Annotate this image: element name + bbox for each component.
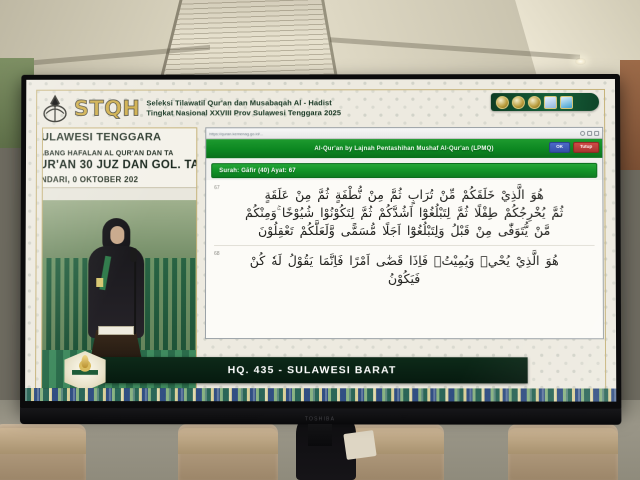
stqh-wordmark: STQH (74, 97, 141, 121)
poster-province: ULAWESI TENGGARA (41, 131, 192, 143)
contestant-figure (86, 218, 146, 368)
ayah-block: 67 هُوَ الَّذِيْ خَلَقَكُمْ مِّنْ تُرَاب… (214, 185, 594, 241)
window-controls[interactable] (580, 130, 599, 135)
minimize-icon[interactable] (580, 130, 585, 135)
tv-screen: STQH Seleksi Tilawatil Qur'an dan Musaba… (25, 79, 616, 402)
stqh-emblem-icon (42, 94, 68, 124)
microphone-icon (130, 248, 137, 262)
chair (508, 424, 618, 480)
ayah-divider (214, 245, 594, 246)
maximize-icon[interactable] (587, 130, 592, 135)
contestant-panel: ULAWESI TENGGARA ABANG HAFALAN AL QUR'AN… (41, 127, 197, 389)
browser-url-bar[interactable]: https://quran.kemenag.go.id/... (206, 128, 602, 139)
app-title: Al-Qur'an by Lajnah Pentashihan Mushaf A… (314, 145, 493, 151)
microphone-stand (134, 256, 136, 334)
caption-bar: HQ. 435 - SULAWESI BARAT (97, 357, 528, 383)
poster-line3: NDARI, 0 OKTOBER 202 (41, 175, 192, 184)
surah-bar-wrapper: Surah: Gāfir (40) Ayat: 67 (206, 158, 602, 182)
medallion-mark (72, 358, 98, 384)
surah-label: Surah: Gāfir (40) Ayat: 67 (219, 168, 296, 174)
app-header-buttons[interactable]: OK Tutup (549, 142, 599, 153)
close-button[interactable]: Tutup (573, 142, 599, 153)
poster-line2: UR'AN 30 JUZ DAN GOL. TA (41, 159, 192, 171)
television: TOSHIBA STQH Seleksi Tilawati (20, 74, 621, 411)
tv-brand-label: TOSHIBA (305, 416, 335, 422)
downlight (575, 58, 586, 65)
tv-stand-neck (308, 424, 332, 446)
chair-back (0, 428, 86, 454)
quran-text-pane[interactable]: 67 هُوَ الَّذِيْ خَلَقَكُمْ مِّنْ تُرَاب… (206, 180, 603, 338)
contestant-face (110, 226, 124, 244)
mushaf-book (98, 326, 134, 335)
slide-ornament-strip (25, 388, 616, 402)
ayah-block: 68 هُوَ الَّذِيْ يُحْيٖ وَيُمِيْتُۚ فَاِ… (214, 251, 595, 289)
surah-bar[interactable]: Surah: Gāfir (40) Ayat: 67 (211, 163, 597, 178)
app-header: Al-Qur'an by Lajnah Pentashihan Mushaf A… (206, 139, 602, 158)
ayah-number: 67 (214, 185, 220, 191)
poster-text-band: ULAWESI TENGGARA ABANG HAFALAN AL QUR'AN… (43, 128, 197, 188)
sponsor-logo-strip (491, 93, 599, 111)
url-text[interactable]: https://quran.kemenag.go.id/... (209, 130, 577, 135)
close-icon[interactable] (594, 130, 599, 135)
ayah-text-line: مَّنْ يُّتَوَفّٰى مِنْ قَبْلُ وَلِتَبْلُ… (214, 221, 594, 241)
poster-line1: ABANG HAFALAN AL QUR'AN DAN TA (41, 150, 192, 157)
event-title-line1: Seleksi Tilawatil Qur'an dan Musabaqah A… (146, 99, 341, 109)
sponsor-logo-icon (544, 96, 557, 109)
chair-back (508, 428, 618, 454)
sponsor-logo-icon (512, 96, 525, 109)
browser-window[interactable]: https://quran.kemenag.go.id/... Al-Qur'a… (205, 127, 604, 339)
sponsor-logo-icon (528, 96, 541, 109)
slide-title-block: Seleksi Tilawatil Qur'an dan Musabaqah A… (146, 99, 341, 118)
ayah-text-line: فَيَكُوْنُ (214, 269, 595, 289)
sponsor-logo-icon (496, 96, 509, 109)
presentation-slide: STQH Seleksi Tilawatil Qur'an dan Musaba… (25, 79, 616, 402)
chair (178, 424, 278, 480)
event-title-line2: Tingkat Nasional XXVIII Prov Sulawesi Te… (146, 108, 341, 118)
chair (0, 424, 86, 480)
ayah-number: 68 (214, 251, 220, 257)
ok-button[interactable]: OK (549, 142, 570, 153)
caption-text: HQ. 435 - SULAWESI BARAT (228, 364, 397, 376)
contestant-badge (96, 278, 103, 287)
ayah-text-line: هُوَ الَّذِيْ يُحْيٖ وَيُمِيْتُۚ فَاِذَا… (214, 251, 595, 271)
sponsor-logo-icon (560, 95, 573, 108)
chair-back (178, 428, 278, 454)
paper-sheet (343, 430, 376, 460)
wall-right-post (620, 60, 640, 170)
